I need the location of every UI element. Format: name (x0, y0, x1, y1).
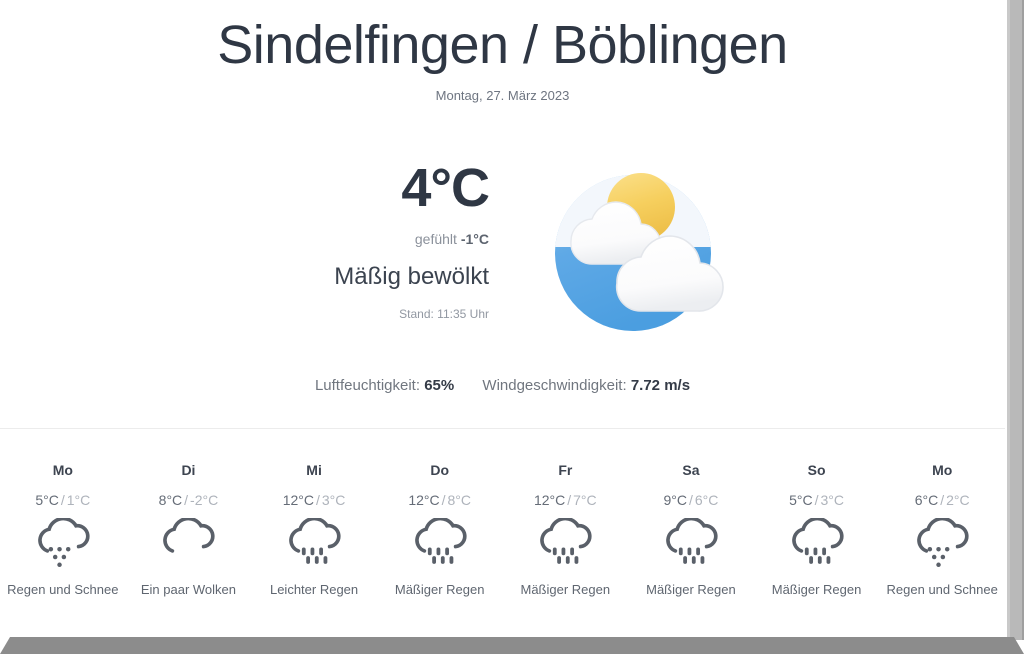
forecast-temp-separator: / (565, 492, 573, 508)
forecast-day-description: Mäßiger Regen (507, 580, 625, 600)
forecast-low: 3°C (821, 492, 845, 508)
forecast-high: 5°C (35, 492, 59, 508)
forecast-high: 5°C (789, 492, 813, 508)
forecast-low: 8°C (448, 492, 472, 508)
feels-like: gefühlt -1°C (279, 231, 489, 247)
forecast-day-description: Regen und Schnee (883, 580, 1001, 600)
forecast-low: 2°C (946, 492, 970, 508)
forecast-day: Sa9°C/6°CMäßiger Regen (628, 462, 754, 600)
forecast-high: 12°C (408, 492, 439, 508)
forecast-day-description: Leichter Regen (255, 580, 373, 600)
weather-page: Sindelfingen / Böblingen Montag, 27. Mär… (0, 0, 1024, 654)
forecast-high: 6°C (915, 492, 939, 508)
forecast-low: 6°C (695, 492, 719, 508)
forecast-temp-separator: / (938, 492, 946, 508)
forecast-row: Mo5°C/1°CRegen und SchneeDi8°C/-2°CEin p… (0, 462, 1005, 600)
forecast-day-name: Do (381, 462, 499, 478)
cloud-rain-icon (785, 518, 849, 570)
forecast-day: Do12°C/8°CMäßiger Regen (377, 462, 503, 600)
forecast-day-temps: 5°C/1°C (4, 492, 122, 508)
forecast-low: 7°C (573, 492, 597, 508)
forecast-temp-separator: / (314, 492, 322, 508)
forecast-temp-separator: / (440, 492, 448, 508)
forecast-low: -2°C (190, 492, 218, 508)
forecast-day: Mo5°C/1°CRegen und Schnee (0, 462, 126, 600)
wind-metric: Windgeschwindigkeit: 7.72 m/s (482, 377, 690, 394)
forecast-day-temps: 5°C/3°C (758, 492, 876, 508)
page-surface: Sindelfingen / Böblingen Montag, 27. Mär… (0, 0, 1005, 636)
observation-time: Stand: 11:35 Uhr (279, 307, 489, 321)
forecast-day-temps: 9°C/6°C (632, 492, 750, 508)
forecast-day-name: So (758, 462, 876, 478)
metrics-row: Luftfeuchtigkeit: 65% Windgeschwindigkei… (0, 377, 1005, 394)
humidity-metric: Luftfeuchtigkeit: 65% (315, 377, 454, 394)
forecast-temp-separator: / (687, 492, 695, 508)
current-conditions-text: 4°C gefühlt -1°C Mäßig bewölkt Stand: 11… (279, 153, 489, 321)
vertical-scrollbar[interactable] (1005, 0, 1024, 640)
forecast-day-name: Mi (255, 462, 373, 478)
sun-behind-clouds-icon (541, 155, 726, 335)
forecast-day-temps: 6°C/2°C (883, 492, 1001, 508)
forecast-high: 9°C (663, 492, 687, 508)
forecast-day-description: Mäßiger Regen (758, 580, 876, 600)
forecast-day-description: Regen und Schnee (4, 580, 122, 600)
cloud-rain-icon (659, 518, 723, 570)
forecast-day-name: Di (130, 462, 248, 478)
current-temperature: 4°C (279, 161, 489, 215)
forecast-day-temps: 12°C/8°C (381, 492, 499, 508)
forecast-day: So5°C/3°CMäßiger Regen (754, 462, 880, 600)
window-bottom-bar (0, 637, 1024, 654)
forecast-high: 12°C (283, 492, 314, 508)
page-title: Sindelfingen / Böblingen (0, 14, 1005, 76)
page-header: Sindelfingen / Böblingen Montag, 27. Mär… (0, 0, 1005, 103)
wind-value: 7.72 m/s (631, 377, 690, 394)
forecast-day-description: Ein paar Wolken (130, 580, 248, 600)
feels-like-label: gefühlt (415, 231, 457, 247)
current-conditions: 4°C gefühlt -1°C Mäßig bewölkt Stand: 11… (0, 153, 1005, 335)
date-label: Montag, 27. März 2023 (0, 88, 1005, 103)
forecast-temp-separator: / (59, 492, 67, 508)
forecast-day-temps: 8°C/-2°C (130, 492, 248, 508)
forecast-day-name: Mo (883, 462, 1001, 478)
forecast-temp-separator: / (813, 492, 821, 508)
cloud-rain-icon (408, 518, 472, 570)
forecast-day-temps: 12°C/7°C (507, 492, 625, 508)
forecast-day: Di8°C/-2°CEin paar Wolken (126, 462, 252, 600)
forecast-day-name: Mo (4, 462, 122, 478)
section-divider (0, 428, 1005, 429)
forecast-day: Mo6°C/2°CRegen und Schnee (879, 462, 1005, 600)
cloud-rain-icon (282, 518, 346, 570)
forecast-high: 12°C (534, 492, 565, 508)
wind-label: Windgeschwindigkeit: (482, 377, 626, 394)
cloud-snow-icon (31, 518, 95, 570)
forecast-day: Fr12°C/7°CMäßiger Regen (503, 462, 629, 600)
forecast-day-name: Fr (507, 462, 625, 478)
cloud-rain-icon (533, 518, 597, 570)
forecast-low: 3°C (322, 492, 346, 508)
forecast-low: 1°C (67, 492, 91, 508)
forecast-day-description: Mäßiger Regen (632, 580, 750, 600)
feels-like-value: -1°C (461, 231, 489, 247)
current-condition-text: Mäßig bewölkt (279, 263, 489, 291)
forecast-temp-separator: / (182, 492, 190, 508)
cloud-snow-icon (910, 518, 974, 570)
cloud-icon (156, 518, 220, 570)
humidity-label: Luftfeuchtigkeit: (315, 377, 420, 394)
forecast-day: Mi12°C/3°CLeichter Regen (251, 462, 377, 600)
humidity-value: 65% (424, 377, 454, 394)
forecast-day-description: Mäßiger Regen (381, 580, 499, 600)
forecast-high: 8°C (159, 492, 183, 508)
forecast-day-temps: 12°C/3°C (255, 492, 373, 508)
forecast-day-name: Sa (632, 462, 750, 478)
